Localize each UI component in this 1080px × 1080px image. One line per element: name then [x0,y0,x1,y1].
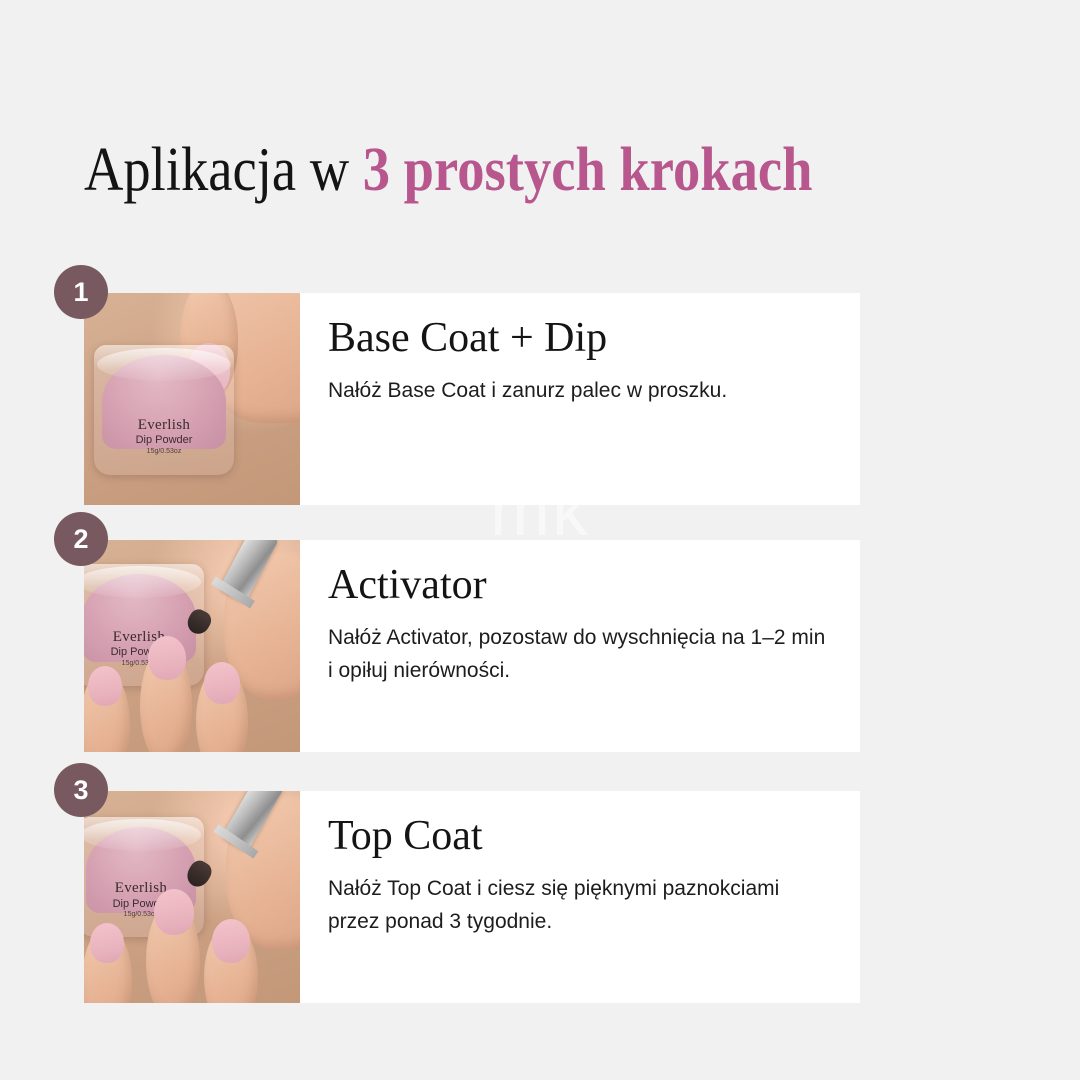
jar-label: Everlish Dip Powder 15g/0.53oz [94,416,234,457]
page-title-accent: 3 prostych krokach [363,136,813,204]
step-card: Everlish Dip Powder 15g/0.53oz [84,791,860,1003]
jar-brand: Everlish [84,628,204,647]
jar-label: Everlish Dip Powder 15g/0.53oz [84,628,204,669]
fingernail [154,889,194,935]
step-number-badge: 2 [54,512,108,566]
page-title-plain: Aplikacja w [84,136,363,204]
step-photo-activator-brush: Everlish Dip Powder 15g/0.53oz [84,540,300,752]
fingernail [204,662,240,704]
step-body: Top Coat Nałóż Top Coat i ciesz się pięk… [300,791,860,1003]
step-description: Nałóż Base Coat i zanurz palec w proszku… [328,375,830,408]
step-body: Activator Nałóż Activator, pozostaw do w… [300,540,860,752]
step-item: Everlish Dip Powder 15g/0.53oz [84,791,860,1003]
page-title: Aplikacja w 3 prostych krokach [84,138,812,203]
step-description: Nałóż Top Coat i ciesz się pięknymi pazn… [328,873,830,938]
step-card: Everlish Dip Powder 15g/0.53oz Base Coat… [84,293,860,505]
step-item: Everlish Dip Powder 15g/0.53oz Base Coat… [84,293,860,505]
fingernail [212,919,250,963]
step-card: Everlish Dip Powder 15g/0.53oz [84,540,860,752]
jar-type: Dip Powder [84,646,204,660]
step-item: Everlish Dip Powder 15g/0.53oz [84,540,860,752]
step-heading: Base Coat + Dip [328,315,830,361]
jar-type: Dip Powder [94,434,234,448]
step-photo-top-coat-brush: Everlish Dip Powder 15g/0.53oz [84,791,300,1003]
product-jar: Everlish Dip Powder 15g/0.53oz [94,345,234,475]
step-number-badge: 1 [54,265,108,319]
step-description: Nałóż Activator, pozostaw do wyschnięcia… [328,622,830,687]
fingernail [148,636,186,680]
step-heading: Activator [328,562,830,608]
jar-rim [84,819,201,850]
step-photo-dipping-finger: Everlish Dip Powder 15g/0.53oz [84,293,300,505]
jar-brand: Everlish [94,416,234,435]
step-body: Base Coat + Dip Nałóż Base Coat i zanurz… [300,293,860,505]
step-heading: Top Coat [328,813,830,859]
jar-size: 15g/0.53oz [94,448,234,457]
step-number-badge: 3 [54,763,108,817]
infographic-page: mk Aplikacja w 3 prostych krokach [0,0,1080,1080]
jar-rim [97,348,231,382]
fingernail [90,923,124,963]
fingernail [88,666,122,706]
